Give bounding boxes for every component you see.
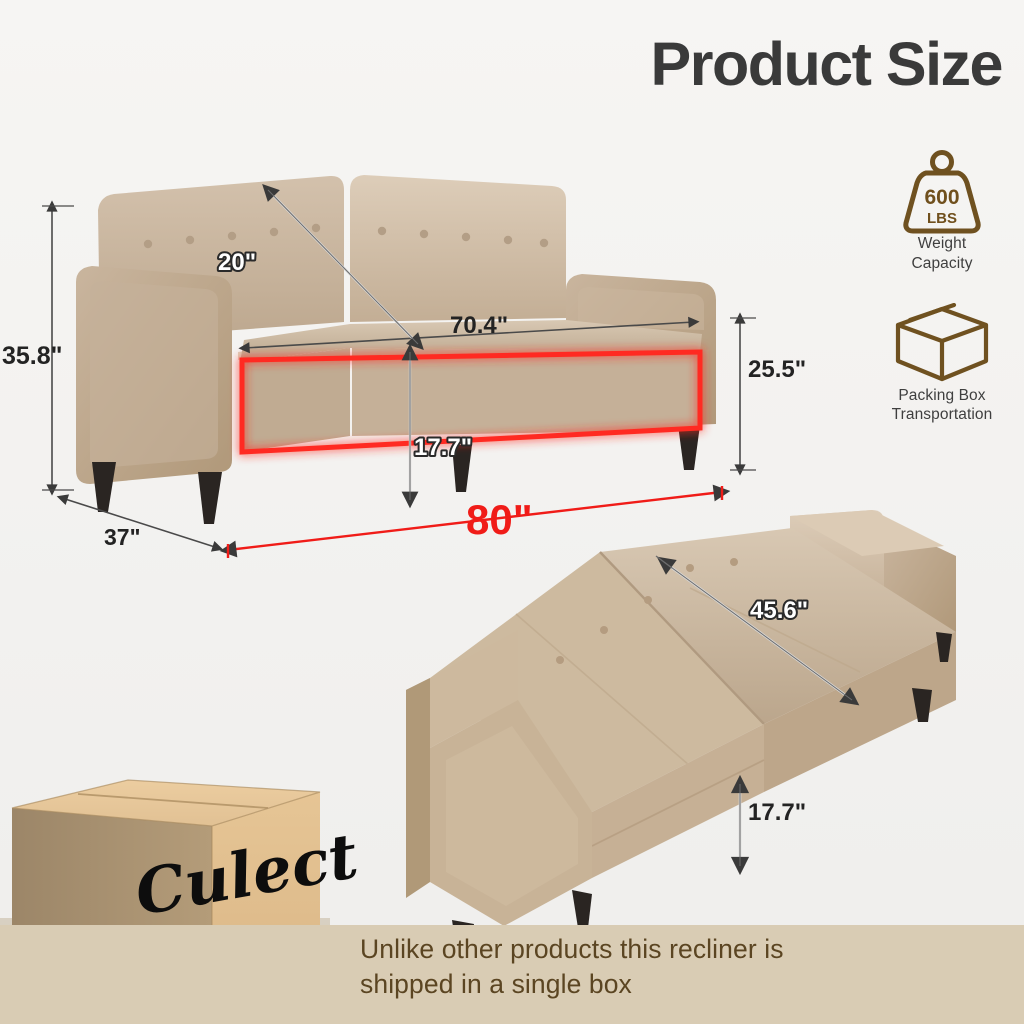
dim-depth: 37": [104, 524, 141, 550]
shipping-banner-line1: Unlike other products this recliner is: [360, 932, 960, 967]
dim-backrest-height: 20": [218, 249, 256, 276]
dim-overall-width: 80": [466, 496, 533, 543]
bed-leg-front-mid: [572, 890, 592, 928]
sofa-leg-front-left: [92, 462, 116, 512]
sofa-seat-cushion-right: [352, 348, 700, 436]
artwork-stage: 35.8" 20" 70.4" 17.7" 25.5" 37" 80": [0, 0, 1024, 1024]
sofa-bed-illustration: [406, 510, 956, 960]
bed-arm-near-side: [406, 678, 430, 898]
dim-arm-height: 25.5": [748, 356, 806, 383]
dim-seat-width: 70.4": [450, 312, 508, 339]
shipping-banner-line2: shipped in a single box: [360, 967, 960, 1002]
product-illustrations: 35.8" 20" 70.4" 17.7" 25.5" 37" 80": [0, 0, 1024, 1024]
sofa-backrest-right: [350, 175, 566, 322]
sofa-upright-illustration: [76, 175, 716, 524]
shipping-banner-text: Unlike other products this recliner is s…: [360, 932, 960, 1002]
sofa-seat-cushion-left: [240, 348, 350, 452]
dim-bed-height: 17.7": [748, 799, 806, 826]
sofa-leg-back-right: [678, 425, 700, 470]
sofa-leg-front-mid: [198, 472, 222, 524]
dim-seat-height: 17.7": [414, 434, 472, 461]
dim-overall-height: 35.8": [2, 342, 63, 370]
dim-bed-width: 45.6": [750, 597, 808, 624]
product-size-infographic: Product Size 600 LBS Weight Capacity: [0, 0, 1024, 1024]
sofa-arm-left-inner: [90, 281, 218, 468]
